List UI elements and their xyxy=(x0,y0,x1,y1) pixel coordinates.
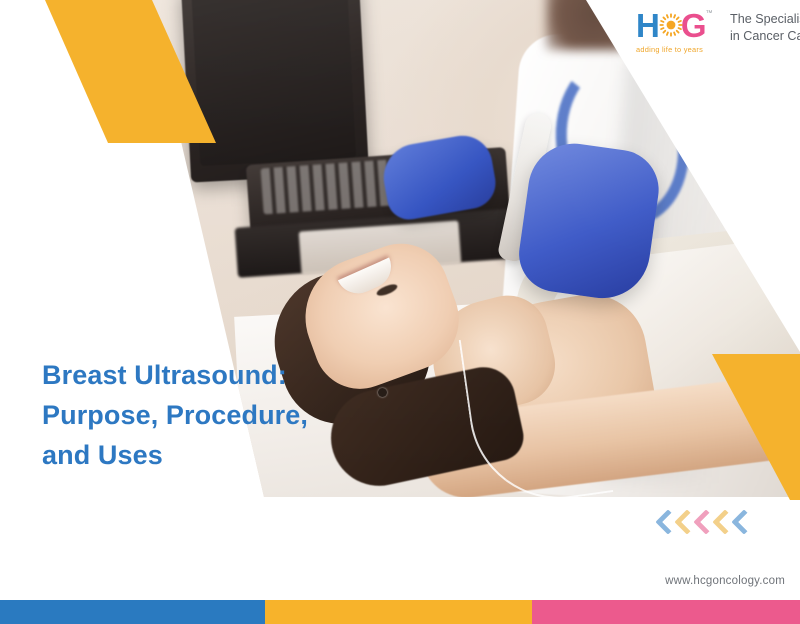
promo-banner-slide: H xyxy=(0,0,800,624)
logo-strapline-line1: The Specialist xyxy=(730,11,800,28)
logo-strapline-line2: in Cancer Care xyxy=(730,28,800,45)
monitor-screen xyxy=(192,0,357,166)
trademark-symbol: ™ xyxy=(706,10,713,17)
ultrasound-monitor xyxy=(181,0,369,183)
chevron-left-icon-1 xyxy=(656,508,673,542)
sunburst-icon xyxy=(659,13,683,37)
bar-segment-yellow xyxy=(265,600,532,624)
page-title-line-2: Purpose, Procedure, xyxy=(42,396,382,436)
chevron-left-icon-5 xyxy=(732,508,749,542)
hcg-logo[interactable]: H xyxy=(636,8,800,54)
hcg-logo-mark: H xyxy=(636,8,714,54)
website-url[interactable]: www.hcgoncology.com xyxy=(0,575,785,587)
console-keyboard xyxy=(261,160,392,215)
bar-segment-pink xyxy=(532,600,800,624)
hcg-logo-letters: H xyxy=(636,8,714,42)
chevron-left-icon-3 xyxy=(694,508,711,542)
bottom-color-bar xyxy=(0,600,800,624)
logo-letter-h: H xyxy=(636,9,659,42)
chevron-group xyxy=(656,508,749,542)
logo-letter-g: G xyxy=(681,9,706,42)
logo-tagline: adding life to years xyxy=(636,45,714,54)
page-title: Breast Ultrasound: Purpose, Procedure, a… xyxy=(42,356,382,476)
logo-strapline: The Specialist in Cancer Care xyxy=(730,8,800,46)
bar-segment-blue xyxy=(0,600,265,624)
chevron-left-icon-4 xyxy=(713,508,730,542)
page-title-line-3: and Uses xyxy=(42,436,382,476)
page-title-line-1: Breast Ultrasound: xyxy=(42,356,382,396)
chevron-left-icon-2 xyxy=(675,508,692,542)
